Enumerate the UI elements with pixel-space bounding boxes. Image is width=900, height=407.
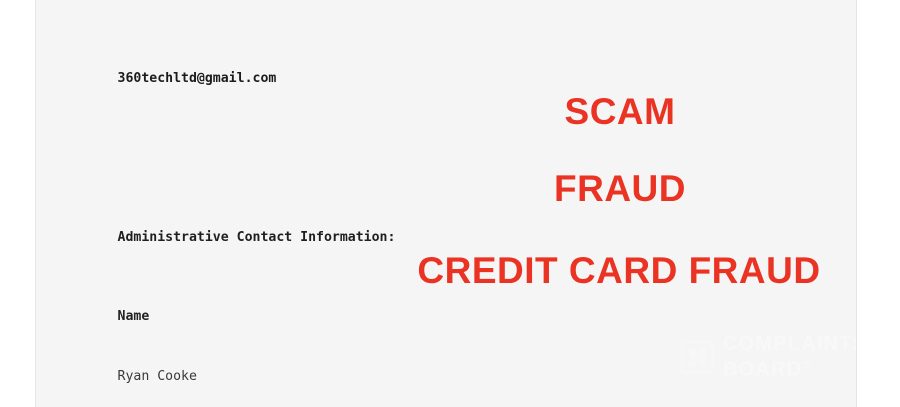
record-value-name: Ryan Cooke xyxy=(54,347,414,367)
watermark-line-1: COMPLAINTS xyxy=(723,333,857,355)
complaintsboard-logo-icon xyxy=(680,340,714,374)
administrative-contact-heading: Administrative Contact Information: xyxy=(118,230,396,245)
annotation-credit-card-fraud: CREDIT CARD FRAUD xyxy=(413,249,825,293)
screenshot-root: 360techltd@gmail.com Administrative Cont… xyxy=(0,0,900,407)
annotation-fraud: FRAUD xyxy=(430,167,810,211)
record-line-email-top: 360techltd@gmail.com xyxy=(54,49,414,69)
watermark-text: COMPLAINTS BOARD™ xyxy=(723,334,857,381)
watermark: COMPLAINTS BOARD™ xyxy=(680,334,857,381)
field-value: Ryan Cooke xyxy=(118,369,197,384)
record-label-name: Name xyxy=(54,288,414,308)
top-email-value: 360techltd@gmail.com xyxy=(118,71,277,86)
watermark-line-2: BOARD xyxy=(723,359,802,381)
annotation-scam: SCAM xyxy=(430,90,810,134)
watermark-trademark: ™ xyxy=(802,360,811,370)
record-spacer xyxy=(54,128,414,148)
watermark-line-2-wrap: BOARD™ xyxy=(723,355,857,381)
whois-record: 360techltd@gmail.com Administrative Cont… xyxy=(54,0,414,407)
document-panel: 360techltd@gmail.com Administrative Cont… xyxy=(35,0,857,407)
record-section-heading: Administrative Contact Information: xyxy=(54,208,414,228)
field-label: Name xyxy=(118,309,150,324)
